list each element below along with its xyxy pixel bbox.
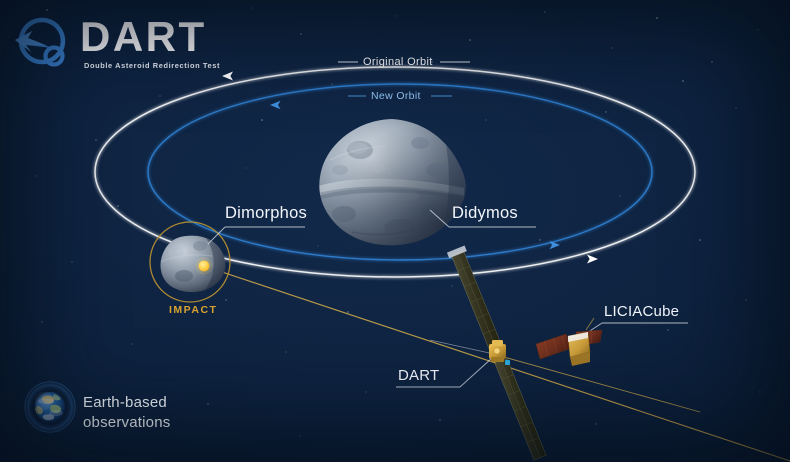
didymos-label: Didymos [452,204,518,223]
earth-badge-icon [22,379,78,435]
dart-spacecraft-asteroid-logo-icon [12,14,76,72]
dart-logo: DART Double Asteroid Redirection Test [12,14,222,76]
dart-mission-infographic: DART Double Asteroid Redirection Test Or… [0,0,790,462]
logo-wordmark: DART [80,15,207,59]
earth-observations-line2: observations [83,413,170,433]
earth-observations-label: Earth-based observations [83,393,170,433]
dart-label: DART [398,367,439,384]
logo-tagline: Double Asteroid Redirection Test [84,61,220,70]
dimorphos-label: Dimorphos [225,204,307,223]
original-orbit-label: Original Orbit [363,56,433,68]
liciacube-label: LICIACube [604,303,679,320]
impact-label: IMPACT [169,304,217,316]
earth-observations-line1: Earth-based [83,393,170,413]
new-orbit-label: New Orbit [371,90,421,102]
